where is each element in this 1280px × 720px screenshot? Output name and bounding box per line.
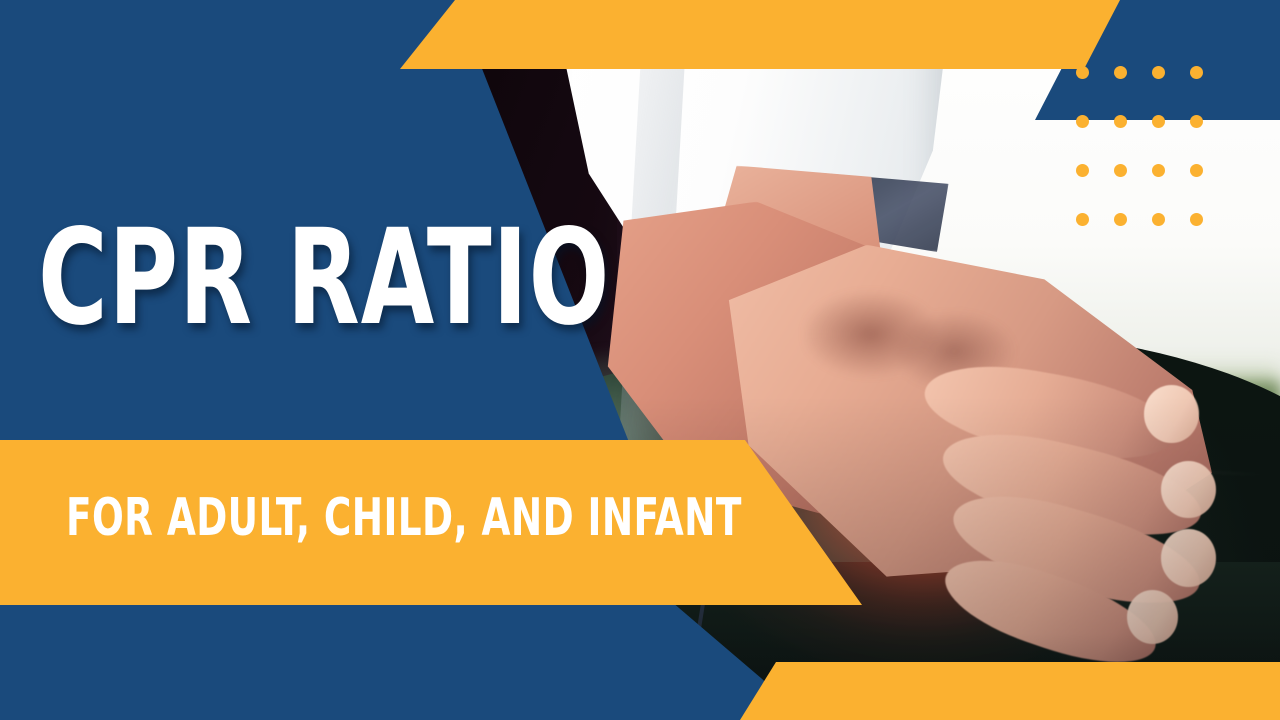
dot-grid xyxy=(1076,66,1228,262)
grid-dot xyxy=(1152,66,1165,79)
grid-dot xyxy=(1190,164,1203,177)
grid-dot xyxy=(1076,66,1089,79)
grid-dot xyxy=(1114,164,1127,177)
banner-title: CPR RATIO xyxy=(38,212,610,344)
grid-dot xyxy=(1076,213,1089,226)
grid-dot xyxy=(1152,164,1165,177)
top-orange-band xyxy=(400,0,1120,69)
banner-canvas: CPR RATIO FOR ADULT, CHILD, AND INFANT xyxy=(0,0,1280,720)
grid-dot xyxy=(1152,213,1165,226)
banner-subtitle: FOR ADULT, CHILD, AND INFANT xyxy=(66,492,742,544)
grid-dot xyxy=(1076,164,1089,177)
grid-dot xyxy=(1190,213,1203,226)
grid-dot xyxy=(1114,66,1127,79)
grid-dot xyxy=(1114,115,1127,128)
grid-dot xyxy=(1076,115,1089,128)
grid-dot xyxy=(1190,66,1203,79)
grid-dot xyxy=(1152,115,1165,128)
bottom-right-orange-band xyxy=(740,662,1280,720)
grid-dot xyxy=(1114,213,1127,226)
grid-dot xyxy=(1190,115,1203,128)
